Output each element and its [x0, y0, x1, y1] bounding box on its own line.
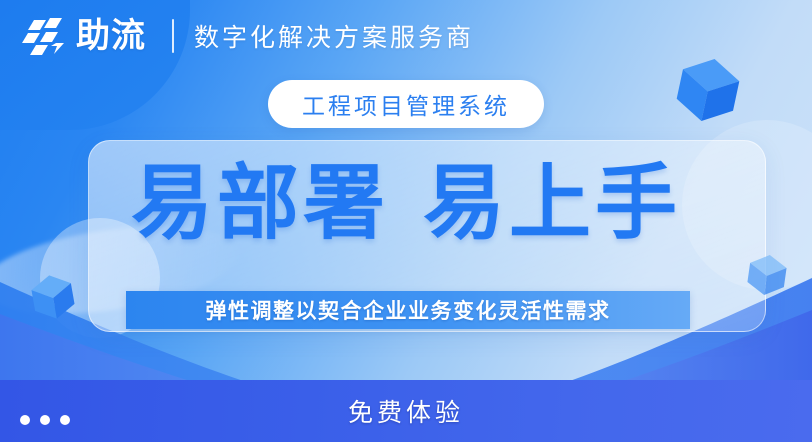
carousel-dot[interactable] [60, 415, 70, 425]
header-divider [172, 19, 174, 53]
isometric-cube-right-icon [744, 252, 790, 298]
flow-bolt-logo-icon [22, 16, 68, 56]
banner-header: 助流 数字化解决方案服务商 [0, 0, 812, 72]
badge-row: 工程项目管理系统 [0, 80, 812, 128]
footer-cta-bar[interactable]: 免费体验 [0, 380, 812, 442]
product-badge: 工程项目管理系统 [268, 80, 544, 128]
brand-name: 助流 [76, 19, 146, 53]
headline-part-1: 易部署 [131, 158, 389, 249]
brand-logo[interactable]: 助流 [0, 16, 146, 56]
isometric-cube-left-icon [28, 272, 78, 322]
hero-subtitle-text: 弹性调整以契合企业业务变化灵活性需求 [206, 295, 611, 325]
carousel-dot[interactable] [20, 415, 30, 425]
hero-headline: 易部署易上手 [0, 163, 812, 245]
promo-banner: 助流 数字化解决方案服务商 工程项目管理系统 易部署易上手 弹性调整以契合企业业… [0, 0, 812, 442]
header-slogan: 数字化解决方案服务商 [194, 18, 474, 54]
headline-part-2: 易上手 [423, 158, 681, 249]
carousel-dots[interactable] [20, 415, 70, 425]
carousel-dot[interactable] [40, 415, 50, 425]
hero-subtitle-bar: 弹性调整以契合企业业务变化灵活性需求 [126, 291, 690, 329]
footer-cta-label: 免费体验 [348, 393, 464, 429]
